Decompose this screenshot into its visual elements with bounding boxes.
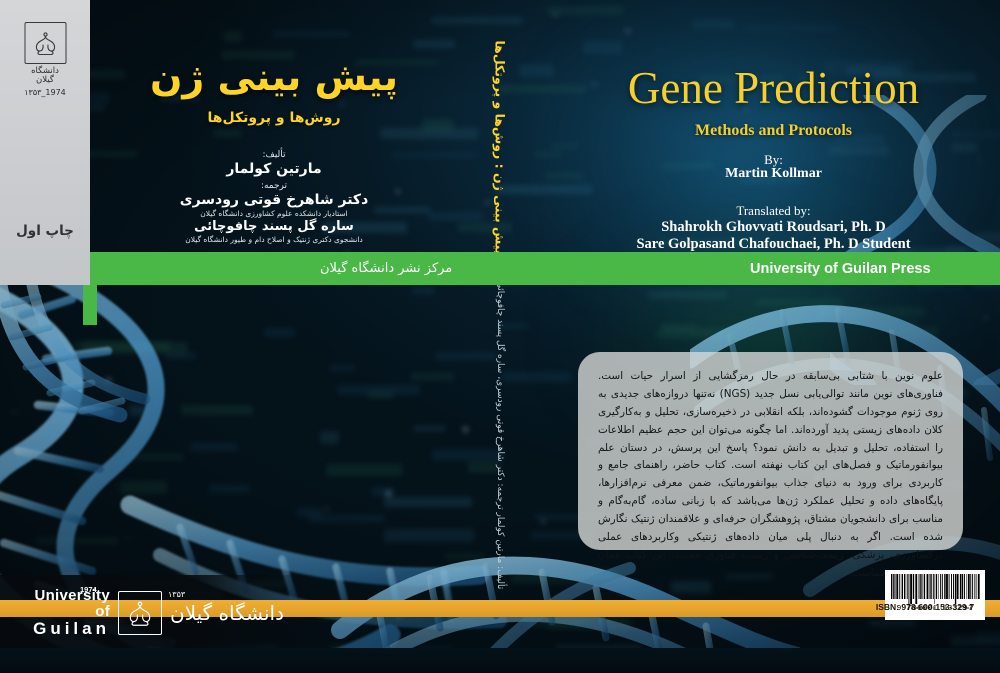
persian-credits-block: تألیف: مارتین کولمار ترجمه: دکتر شاهرخ ق…	[90, 146, 458, 244]
persian-author-name: مارتین کولمار	[90, 161, 458, 177]
flap-green-accent	[83, 285, 97, 325]
spine-authors-text: تألیف: مارتین کولمار ترجمه: دکتر شاهرخ ق…	[495, 270, 505, 600]
persian-translator-1-affiliation: استادیار دانشکده علوم کشاورزی دانشگاه گی…	[90, 209, 458, 218]
book-cover-artwork: دانشگاه گیلان ۱۳۵۳_1974 چاپ اول پیش بینی…	[0, 0, 1000, 673]
persian-subtitle: روش‌ها و پروتکل‌ها	[90, 110, 458, 126]
edition-label: چاپ اول	[0, 223, 90, 239]
english-translated-label: Translated by:	[547, 203, 1000, 219]
publisher-band: مرکز نشر دانشگاه گیلان University of Gui…	[90, 252, 1000, 285]
isbn-barcode: 9 786001 533297	[885, 570, 985, 620]
flap-university-logo: دانشگاه گیلان ۱۳۵۳_1974	[23, 22, 68, 97]
logo-english-line-2: Guilan	[18, 620, 110, 638]
persian-translator-2-name: ساره گل پسند چافوچائی	[90, 219, 458, 234]
persian-author-label: تألیف:	[90, 150, 458, 160]
english-translator-1: Shahrokh Ghovvati Roudsari, Ph. D	[547, 219, 1000, 236]
english-subtitle: Methods and Protocols	[547, 122, 1000, 140]
left-flap-panel: دانشگاه گیلان ۱۳۵۳_1974 چاپ اول	[0, 0, 90, 285]
persian-translator-label: ترجمه:	[90, 181, 458, 191]
logo-english-text: University of Guilan	[18, 588, 110, 637]
logo-persian-text: دانشگاه گیلان	[170, 601, 284, 625]
spine-title-text: پیش بینی ژن : روش‌ها و پروتکل‌ها	[493, 23, 508, 273]
persian-translator-2-affiliation: دانشجوی دکتری ژنتیک و اصلاح دام و طیور د…	[90, 235, 458, 244]
publisher-name-english: University of Guilan Press	[750, 261, 931, 277]
english-author-name: Martin Kollmar	[547, 166, 1000, 182]
back-cover-blurb-text: علوم نوین با شتابی بی‌سابقه در حال رمزگش…	[598, 368, 943, 583]
isbn-text: ISBN: 978-600-153-329-7	[855, 602, 995, 612]
guilan-emblem-footer-icon	[118, 591, 162, 635]
logo-year-english: 1974	[80, 585, 97, 594]
back-cover-top-section: پیش بینی ژن روش‌ها و پروتکل‌ها تألیف: ما…	[90, 0, 458, 252]
back-cover-blurb-box: علوم نوین با شتابی بی‌سابقه در حال رمزگش…	[578, 352, 963, 550]
university-of-guilan-logo: University of Guilan 1974 دانشگاه گیلان …	[18, 584, 308, 642]
persian-title: پیش بینی ژن	[90, 58, 458, 96]
flap-logo-years: ۱۳۵۳_1974	[23, 88, 68, 97]
guilan-emblem-icon	[24, 22, 66, 64]
english-translator-2: Sare Golpasand Chafouchaei, Ph. D Studen…	[547, 236, 1000, 253]
bottom-edge-shadow	[0, 648, 1000, 673]
publisher-name-persian: مرکز نشر دانشگاه گیلان	[320, 261, 452, 276]
flap-logo-university-name: دانشگاه گیلان	[23, 67, 68, 86]
front-cover-top-section: Gene Prediction Methods and Protocols By…	[547, 0, 1000, 252]
logo-year-persian: ۱۳۵۳	[168, 590, 185, 599]
english-title: Gene Prediction	[547, 62, 1000, 114]
book-spine: پیش بینی ژن : روش‌ها و پروتکل‌ها تألیف: …	[455, 0, 547, 673]
persian-translator-1-name: دکتر شاهرخ قوتی رودسری	[90, 192, 458, 208]
